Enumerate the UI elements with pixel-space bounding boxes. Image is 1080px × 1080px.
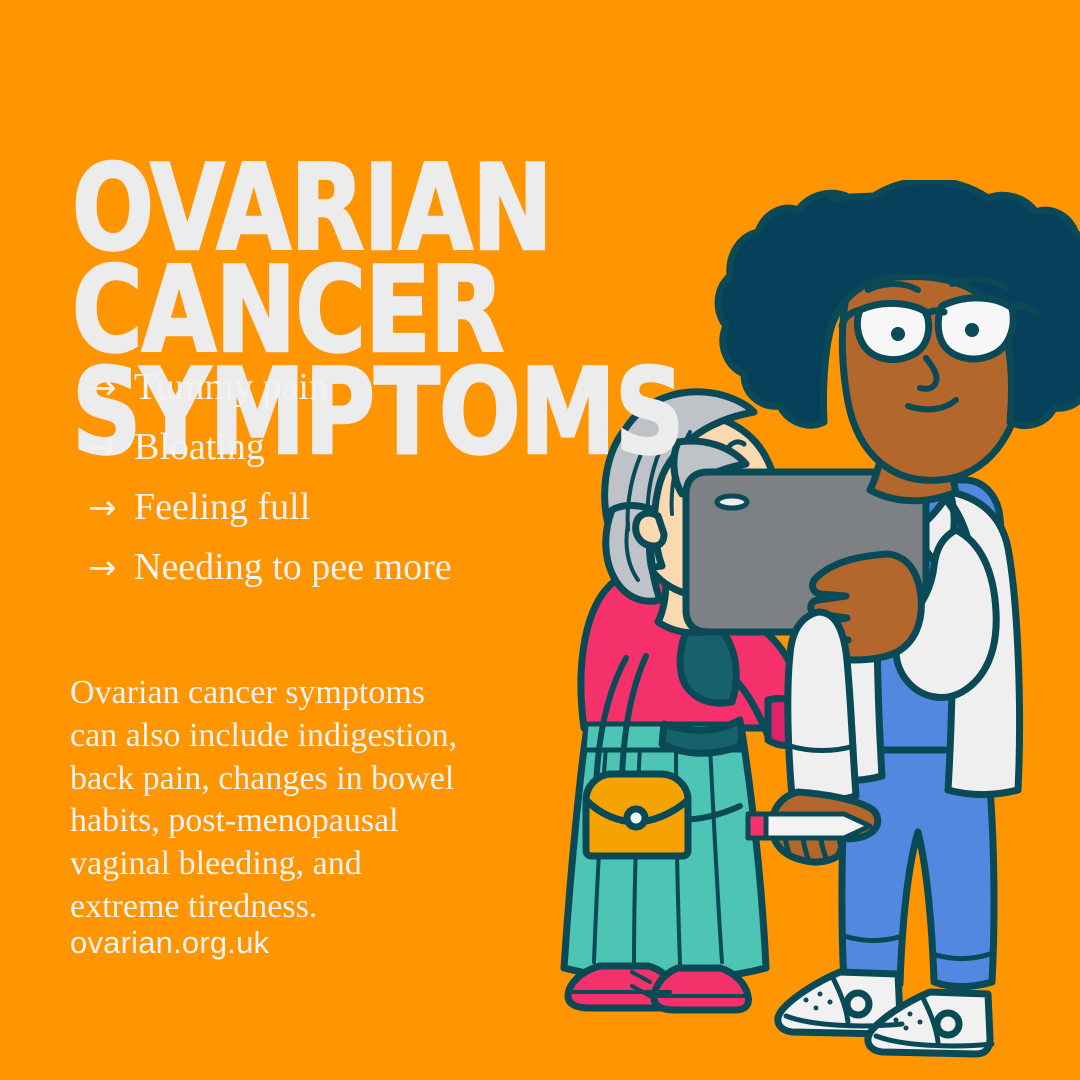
- website-url[interactable]: ovarian.org.uk: [70, 925, 269, 961]
- list-item: → Needing to pee more: [88, 548, 558, 586]
- arrow-right-icon: →: [88, 491, 134, 525]
- poster-canvas: Ovarian Cancer Symptoms → Tummy pain → B…: [0, 0, 1080, 1080]
- symptom-label: Tummy pain: [134, 368, 328, 406]
- list-item: → Feeling full: [88, 488, 558, 526]
- arrow-right-icon: →: [88, 371, 134, 405]
- symptom-list: → Tummy pain → Bloating → Feeling full →…: [88, 368, 558, 608]
- body-paragraph: Ovarian cancer symptoms can also include…: [70, 672, 550, 929]
- arrow-right-icon: →: [88, 431, 134, 465]
- symptom-label: Bloating: [134, 428, 265, 466]
- arrow-right-icon: →: [88, 551, 134, 585]
- text-column: Ovarian Cancer Symptoms → Tummy pain → B…: [0, 0, 560, 1080]
- list-item: → Tummy pain: [88, 368, 558, 406]
- list-item: → Bloating: [88, 428, 558, 466]
- symptom-label: Needing to pee more: [134, 548, 452, 586]
- symptom-label: Feeling full: [134, 488, 310, 526]
